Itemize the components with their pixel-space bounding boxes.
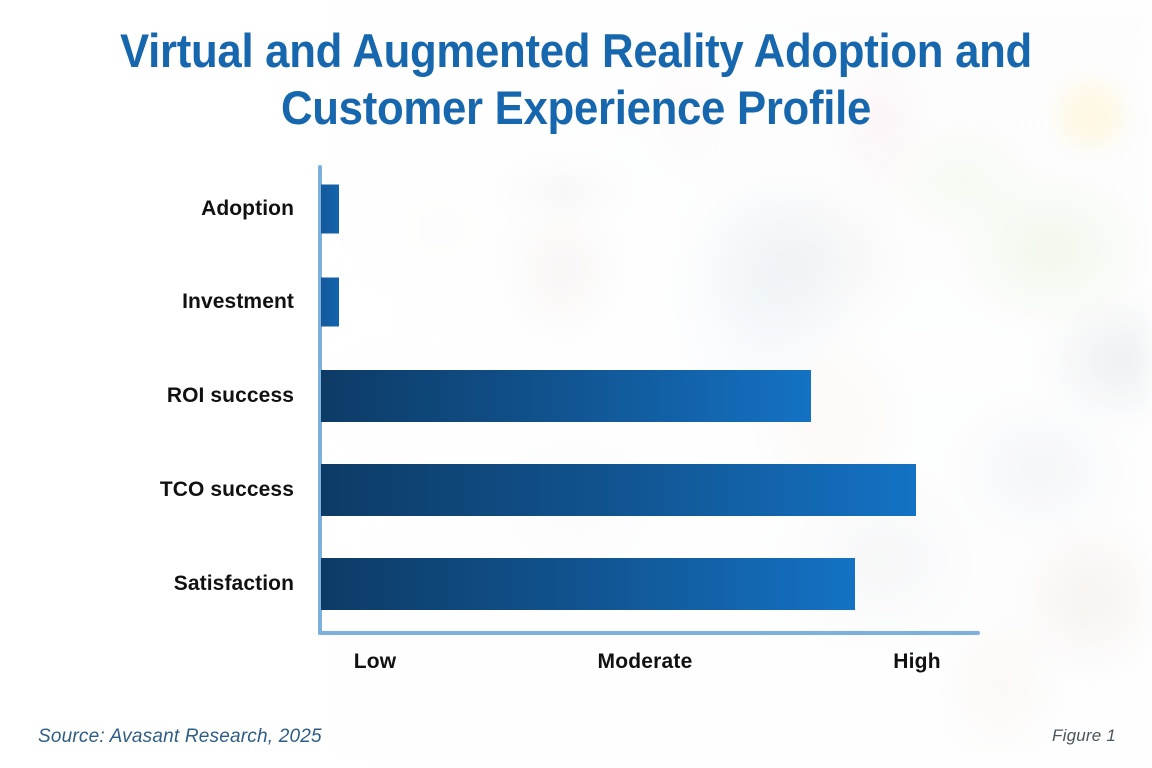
category-label-investment: Investment: [182, 290, 294, 314]
bar-adoption[interactable]: [321, 185, 339, 234]
bar-investment[interactable]: [321, 278, 339, 327]
bar-tco-success[interactable]: [321, 464, 916, 516]
bar-satisfaction[interactable]: [321, 558, 855, 610]
bar-roi-success[interactable]: [321, 370, 811, 422]
source-note: Source: Avasant Research, 2025: [38, 726, 322, 748]
category-label-roi-success: ROI success: [167, 384, 294, 408]
x-tick-label-moderate: Moderate: [598, 650, 693, 674]
category-label-tco-success: TCO success: [160, 478, 294, 502]
figure-number: Figure 1: [1052, 726, 1116, 746]
x-tick-label-low: Low: [354, 650, 397, 674]
category-label-satisfaction: Satisfaction: [174, 572, 294, 596]
bar-chart: Adoption Investment ROI success TCO succ…: [0, 0, 1152, 768]
category-label-adoption: Adoption: [201, 197, 294, 221]
x-tick-label-high: High: [893, 650, 940, 674]
slide-canvas: Virtual and Augmented Reality Adoption a…: [0, 0, 1152, 768]
x-axis-line: [318, 631, 980, 635]
